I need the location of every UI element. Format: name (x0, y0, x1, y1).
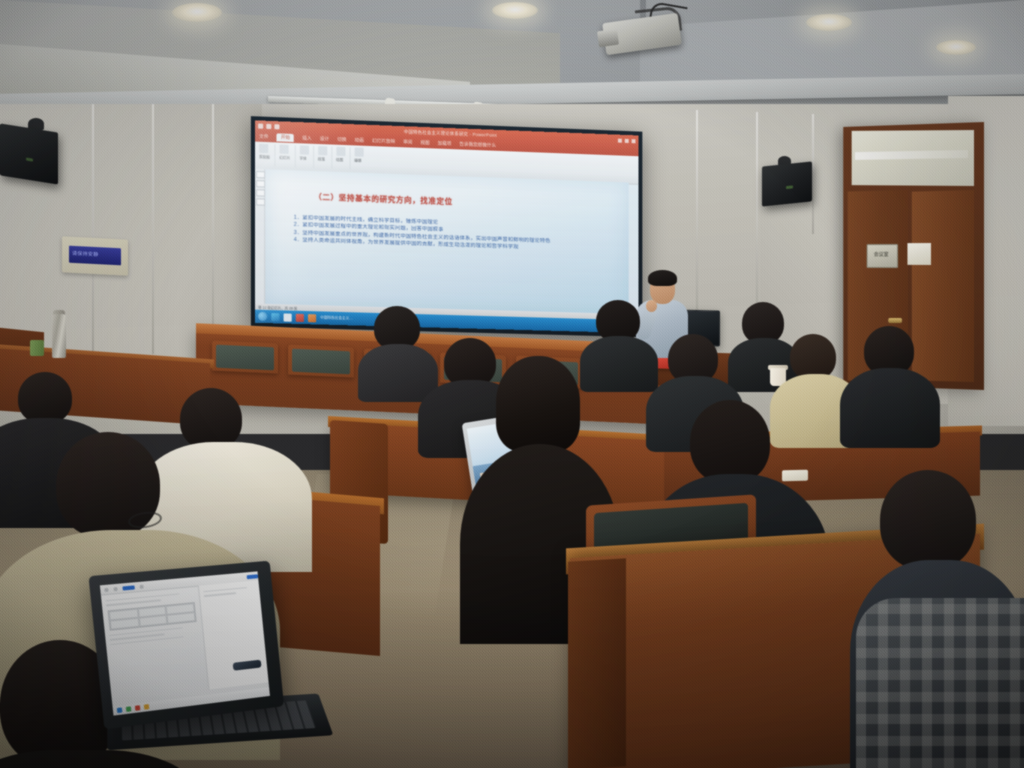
wechat-icon[interactable] (308, 314, 316, 322)
phone-on-desk[interactable] (782, 470, 808, 482)
wall-seam (92, 104, 94, 364)
powerpoint-icon[interactable] (296, 313, 304, 321)
browser-icon[interactable] (117, 707, 123, 713)
door-sign-text: 会议室 (871, 251, 891, 258)
slide-thumbnail[interactable] (256, 180, 265, 187)
front-row-chair[interactable] (212, 341, 278, 374)
ribbon-group-label: 编辑 (354, 158, 363, 163)
taskbar-window-label[interactable]: 中国特色社会主义… (320, 315, 353, 321)
minimize-icon[interactable] (618, 138, 622, 142)
font-icon[interactable] (299, 145, 308, 154)
ribbon-group-slides[interactable]: 幻灯片 (275, 144, 295, 167)
tab-review[interactable]: 审阅 (403, 139, 412, 145)
ribbon-group-label: 绘图 (336, 158, 345, 163)
door-notice-card (907, 243, 931, 265)
pdf-icon[interactable] (135, 705, 141, 711)
tab-insert[interactable]: 插入 (302, 135, 311, 141)
recessed-downlight-icon (936, 40, 976, 55)
foreground-desk-side (568, 558, 626, 768)
speaker-led-icon (786, 185, 793, 189)
table-cell (138, 615, 167, 627)
conference-room-photo: 请保持安静 会议室 中国特色社会主义理论体系研究 - PowerPoint 文 (0, 0, 1024, 768)
tab-animations[interactable]: 动画 (355, 137, 364, 143)
ribbon-group-label: 字体 (299, 156, 308, 161)
front-row-chair[interactable] (288, 345, 354, 378)
head (880, 470, 976, 570)
shapes-icon[interactable] (336, 147, 345, 156)
thermos-flask[interactable] (52, 314, 66, 358)
head (690, 400, 770, 484)
side-panel[interactable] (199, 580, 269, 689)
send-button[interactable] (247, 574, 259, 579)
ribbon-group-drawing[interactable]: 绘图 (332, 147, 350, 170)
tab-file[interactable]: 文件 (259, 134, 268, 140)
wall-speaker-left (0, 123, 58, 184)
laptop-screen[interactable] (100, 571, 270, 715)
ribbon-group-paragraph[interactable]: 段落 (314, 146, 332, 169)
close-icon[interactable] (632, 139, 636, 143)
slide-canvas[interactable]: （二）坚持基本的研究方向，找准定位 1．紧扣中国发展的时代主线，确立科学目标，锤… (265, 169, 628, 317)
recessed-downlight-icon (492, 2, 538, 19)
quick-access-toolbar[interactable] (255, 123, 280, 129)
document-table (108, 602, 197, 631)
tab-addins[interactable]: 加载项 (438, 141, 452, 148)
tab-transitions[interactable]: 切换 (337, 137, 346, 143)
slide-bullet-list: 1．紧扣中国发展的时代主线，确立科学目标，锤炼中国理论 2．紧扣中国发展过程中的… (294, 215, 613, 255)
table-cell (167, 612, 196, 624)
tab-home[interactable]: 开始 (277, 133, 295, 142)
start-button-icon[interactable] (258, 312, 267, 321)
chair-cushion (216, 345, 274, 371)
restore-icon[interactable] (625, 138, 629, 142)
folder-icon[interactable] (144, 704, 149, 710)
save-icon[interactable] (258, 124, 263, 129)
primary-action-button[interactable] (122, 585, 134, 590)
ribbon-group-clipboard[interactable]: 剪贴板 (255, 144, 275, 167)
ribbon-group-label: 段落 (318, 157, 327, 162)
document-pane[interactable] (101, 586, 210, 702)
tab-slideshow[interactable]: 幻灯片放映 (372, 138, 395, 145)
explorer-icon[interactable] (284, 313, 292, 321)
save-icon[interactable] (113, 586, 117, 590)
ribbon-group-label: 幻灯片 (279, 156, 290, 161)
tell-me-box[interactable]: 告诉我您想做什么 (459, 141, 496, 148)
paste-icon[interactable] (259, 144, 268, 153)
wooden-double-door[interactable] (912, 190, 974, 382)
new-slide-icon[interactable] (279, 145, 288, 154)
torso (358, 344, 438, 402)
green-cup[interactable] (30, 340, 44, 356)
find-icon[interactable] (354, 147, 363, 156)
table-cell (110, 617, 140, 629)
slide-title: （二）坚持基本的研究方向，找准定位 (314, 191, 593, 212)
projection-screen[interactable]: 中国特色社会主义理论体系研究 - PowerPoint 文件 开始 插入 设计 … (255, 120, 638, 333)
undo-icon[interactable] (266, 124, 271, 129)
slide-thumbnail[interactable] (256, 189, 265, 196)
head (18, 372, 72, 424)
wechat-icon[interactable] (126, 706, 132, 712)
text-line (203, 587, 246, 592)
more-icon[interactable] (139, 584, 143, 588)
head (496, 356, 580, 452)
presenter-hair (648, 270, 677, 286)
speaker-led-icon (26, 158, 33, 162)
bullets-icon[interactable] (318, 146, 327, 155)
wall-speaker-right (762, 161, 812, 206)
slide-thumbnail[interactable] (256, 171, 265, 178)
text-line (204, 592, 237, 596)
presenter-hand (646, 300, 657, 312)
laptop-app-body (101, 580, 269, 701)
chair-cushion (292, 349, 350, 375)
tab-design[interactable]: 设计 (320, 136, 329, 142)
ribbon-group-label: 剪贴板 (259, 155, 270, 160)
torso (840, 368, 940, 448)
ribbon-group-font[interactable]: 字体 (295, 145, 313, 168)
wall-seam (812, 114, 814, 234)
tab-view[interactable]: 视图 (420, 140, 429, 146)
torso (580, 336, 658, 392)
door-handle[interactable] (888, 318, 902, 323)
plaid-shirt-person (856, 598, 1024, 768)
ribbon-group-editing[interactable]: 编辑 (350, 147, 367, 170)
slide-thumbnail-pane[interactable] (255, 169, 265, 307)
slide-thumbnail[interactable] (256, 198, 265, 205)
head (180, 388, 242, 450)
edge-icon[interactable] (271, 313, 279, 321)
wall-seam (152, 104, 154, 354)
menu-icon[interactable] (104, 587, 108, 591)
wall-seam (212, 104, 214, 344)
window-controls[interactable] (618, 138, 639, 143)
recessed-downlight-icon (806, 14, 852, 31)
projector-lens-icon (597, 29, 619, 48)
recessed-downlight-icon (172, 3, 222, 22)
